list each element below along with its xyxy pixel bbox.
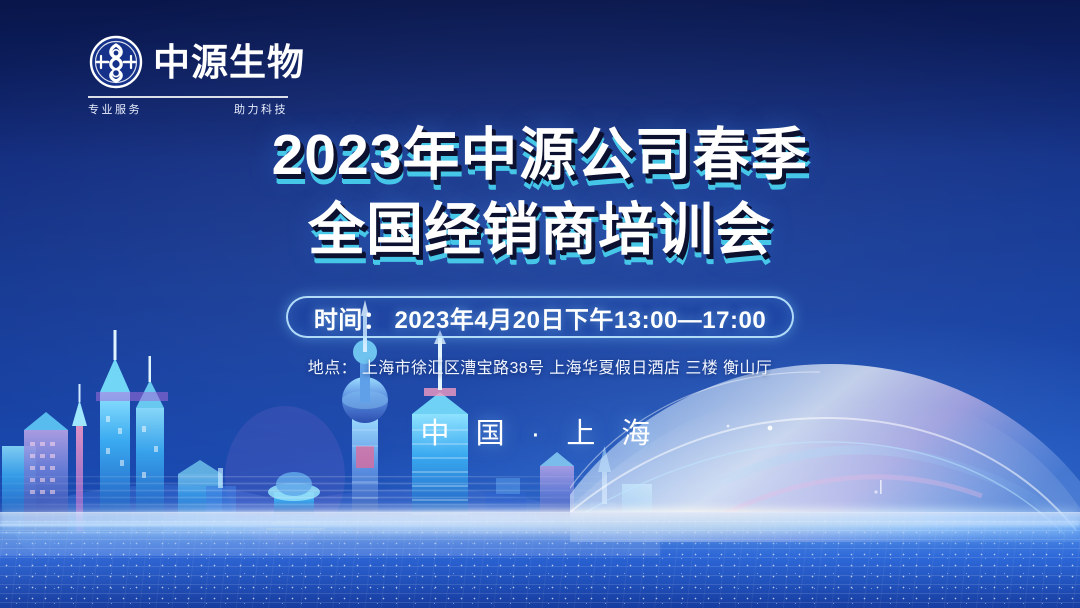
event-city-text: 中 国 · 上 海 (0, 410, 1080, 452)
ground-particles (0, 516, 1080, 608)
event-poster: 中源生物 专业服务 助力科技 2023年中源公司春季 全国经销商培训会 时间： … (0, 0, 1080, 608)
event-time-badge: 时间： 2023年4月20日下午13:00—17:00 (286, 296, 794, 338)
event-time-container: 时间： 2023年4月20日下午13:00—17:00 (0, 296, 1080, 338)
brand-tagline-right: 助力科技 (234, 101, 288, 117)
brand-tagline-left: 专业服务 (88, 101, 142, 117)
page-title-line-1: 2023年中源公司春季 (0, 118, 1080, 193)
event-location-text: 地点： 上海市徐汇区漕宝路38号 上海华夏假日酒店 三楼 衡山厅 (0, 354, 1080, 378)
brand-tagline: 专业服务 助力科技 (88, 101, 288, 117)
event-time-text: 时间： 2023年4月20日下午13:00—17:00 (314, 300, 766, 335)
brand-logo: 中源生物 专业服务 助力科技 (88, 34, 288, 117)
brand-divider (88, 96, 288, 98)
circular-dna-emblem-icon (88, 34, 144, 90)
page-title: 2023年中源公司春季 全国经销商培训会 (0, 118, 1080, 268)
page-title-line-2: 全国经销商培训会 (0, 193, 1080, 268)
brand-logo-row: 中源生物 (88, 34, 288, 90)
ground-plane (0, 512, 1080, 608)
brand-name: 中源生物 (153, 44, 305, 81)
